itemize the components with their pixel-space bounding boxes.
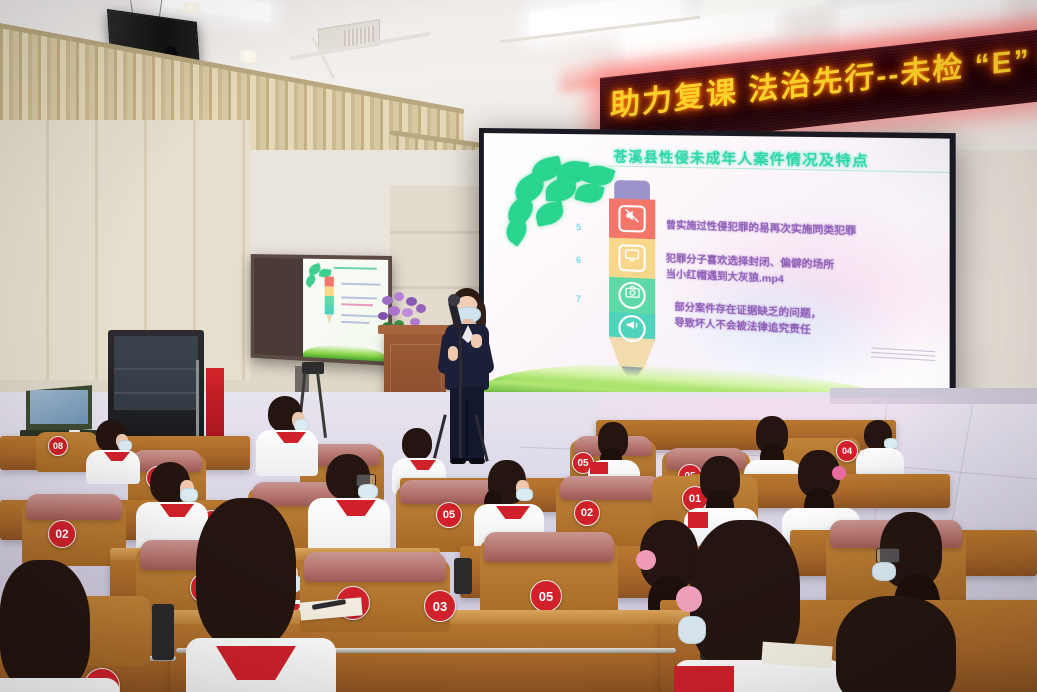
seat-number-badge: 03 xyxy=(424,590,456,622)
presenter-shoe xyxy=(450,458,466,464)
slide-content: 苍溪县性侵未成年人案件情况及特点 xyxy=(484,133,950,430)
side-monitor[interactable] xyxy=(251,254,392,366)
seat-cushion xyxy=(26,494,122,520)
cart-shelf xyxy=(114,368,196,370)
slide-number-5: 5 xyxy=(576,222,581,232)
seat-armrest xyxy=(454,558,472,594)
seat-number-badge: 08 xyxy=(48,436,68,456)
megaphone-icon xyxy=(618,314,645,342)
laptop-screen xyxy=(30,390,88,424)
mute-speaker-icon xyxy=(618,205,645,233)
slide-number-6: 6 xyxy=(576,255,581,265)
monitor-screen-icon xyxy=(618,244,645,272)
slide-leaf-decoration xyxy=(502,157,624,254)
presenter-trouser-seam xyxy=(466,400,468,460)
seat-number-badge: 02 xyxy=(48,520,76,548)
lecture-hall-photo: 助力复课 法治先行--未检 “E” 课堂 苍溪县性侵未成年人案件情况及特点 xyxy=(0,0,1037,692)
ceiling-downlight xyxy=(236,50,260,61)
seat-cushion xyxy=(304,552,446,582)
presenter xyxy=(432,288,504,464)
presenter-right-hand xyxy=(471,334,482,348)
camera-icon xyxy=(618,281,645,309)
equipment-cart-glass-door xyxy=(114,336,198,410)
slide-pencil-graphic xyxy=(609,180,655,389)
seat-cushion xyxy=(484,532,614,562)
presenter-shoe xyxy=(469,458,485,464)
seat-cushion xyxy=(560,476,662,500)
ceiling-downlight xyxy=(178,2,204,14)
microphone-stand xyxy=(459,330,462,458)
microphone-head xyxy=(448,294,460,306)
seat-number-badge: 05 xyxy=(530,580,562,612)
presenter-left-hand xyxy=(448,346,458,361)
cart-shelf xyxy=(114,392,196,394)
seat-number-badge: 02 xyxy=(574,500,600,526)
side-monitor-slide xyxy=(303,259,388,362)
seat-armrest xyxy=(152,604,174,660)
seat-number-badge: 04 xyxy=(836,440,858,462)
seat-number-badge: 05 xyxy=(436,502,462,528)
side-monitor-screen xyxy=(254,258,388,362)
side-monitor-pencil xyxy=(325,277,334,324)
slide-number-7: 7 xyxy=(576,294,581,304)
rollup-banner xyxy=(206,368,224,446)
